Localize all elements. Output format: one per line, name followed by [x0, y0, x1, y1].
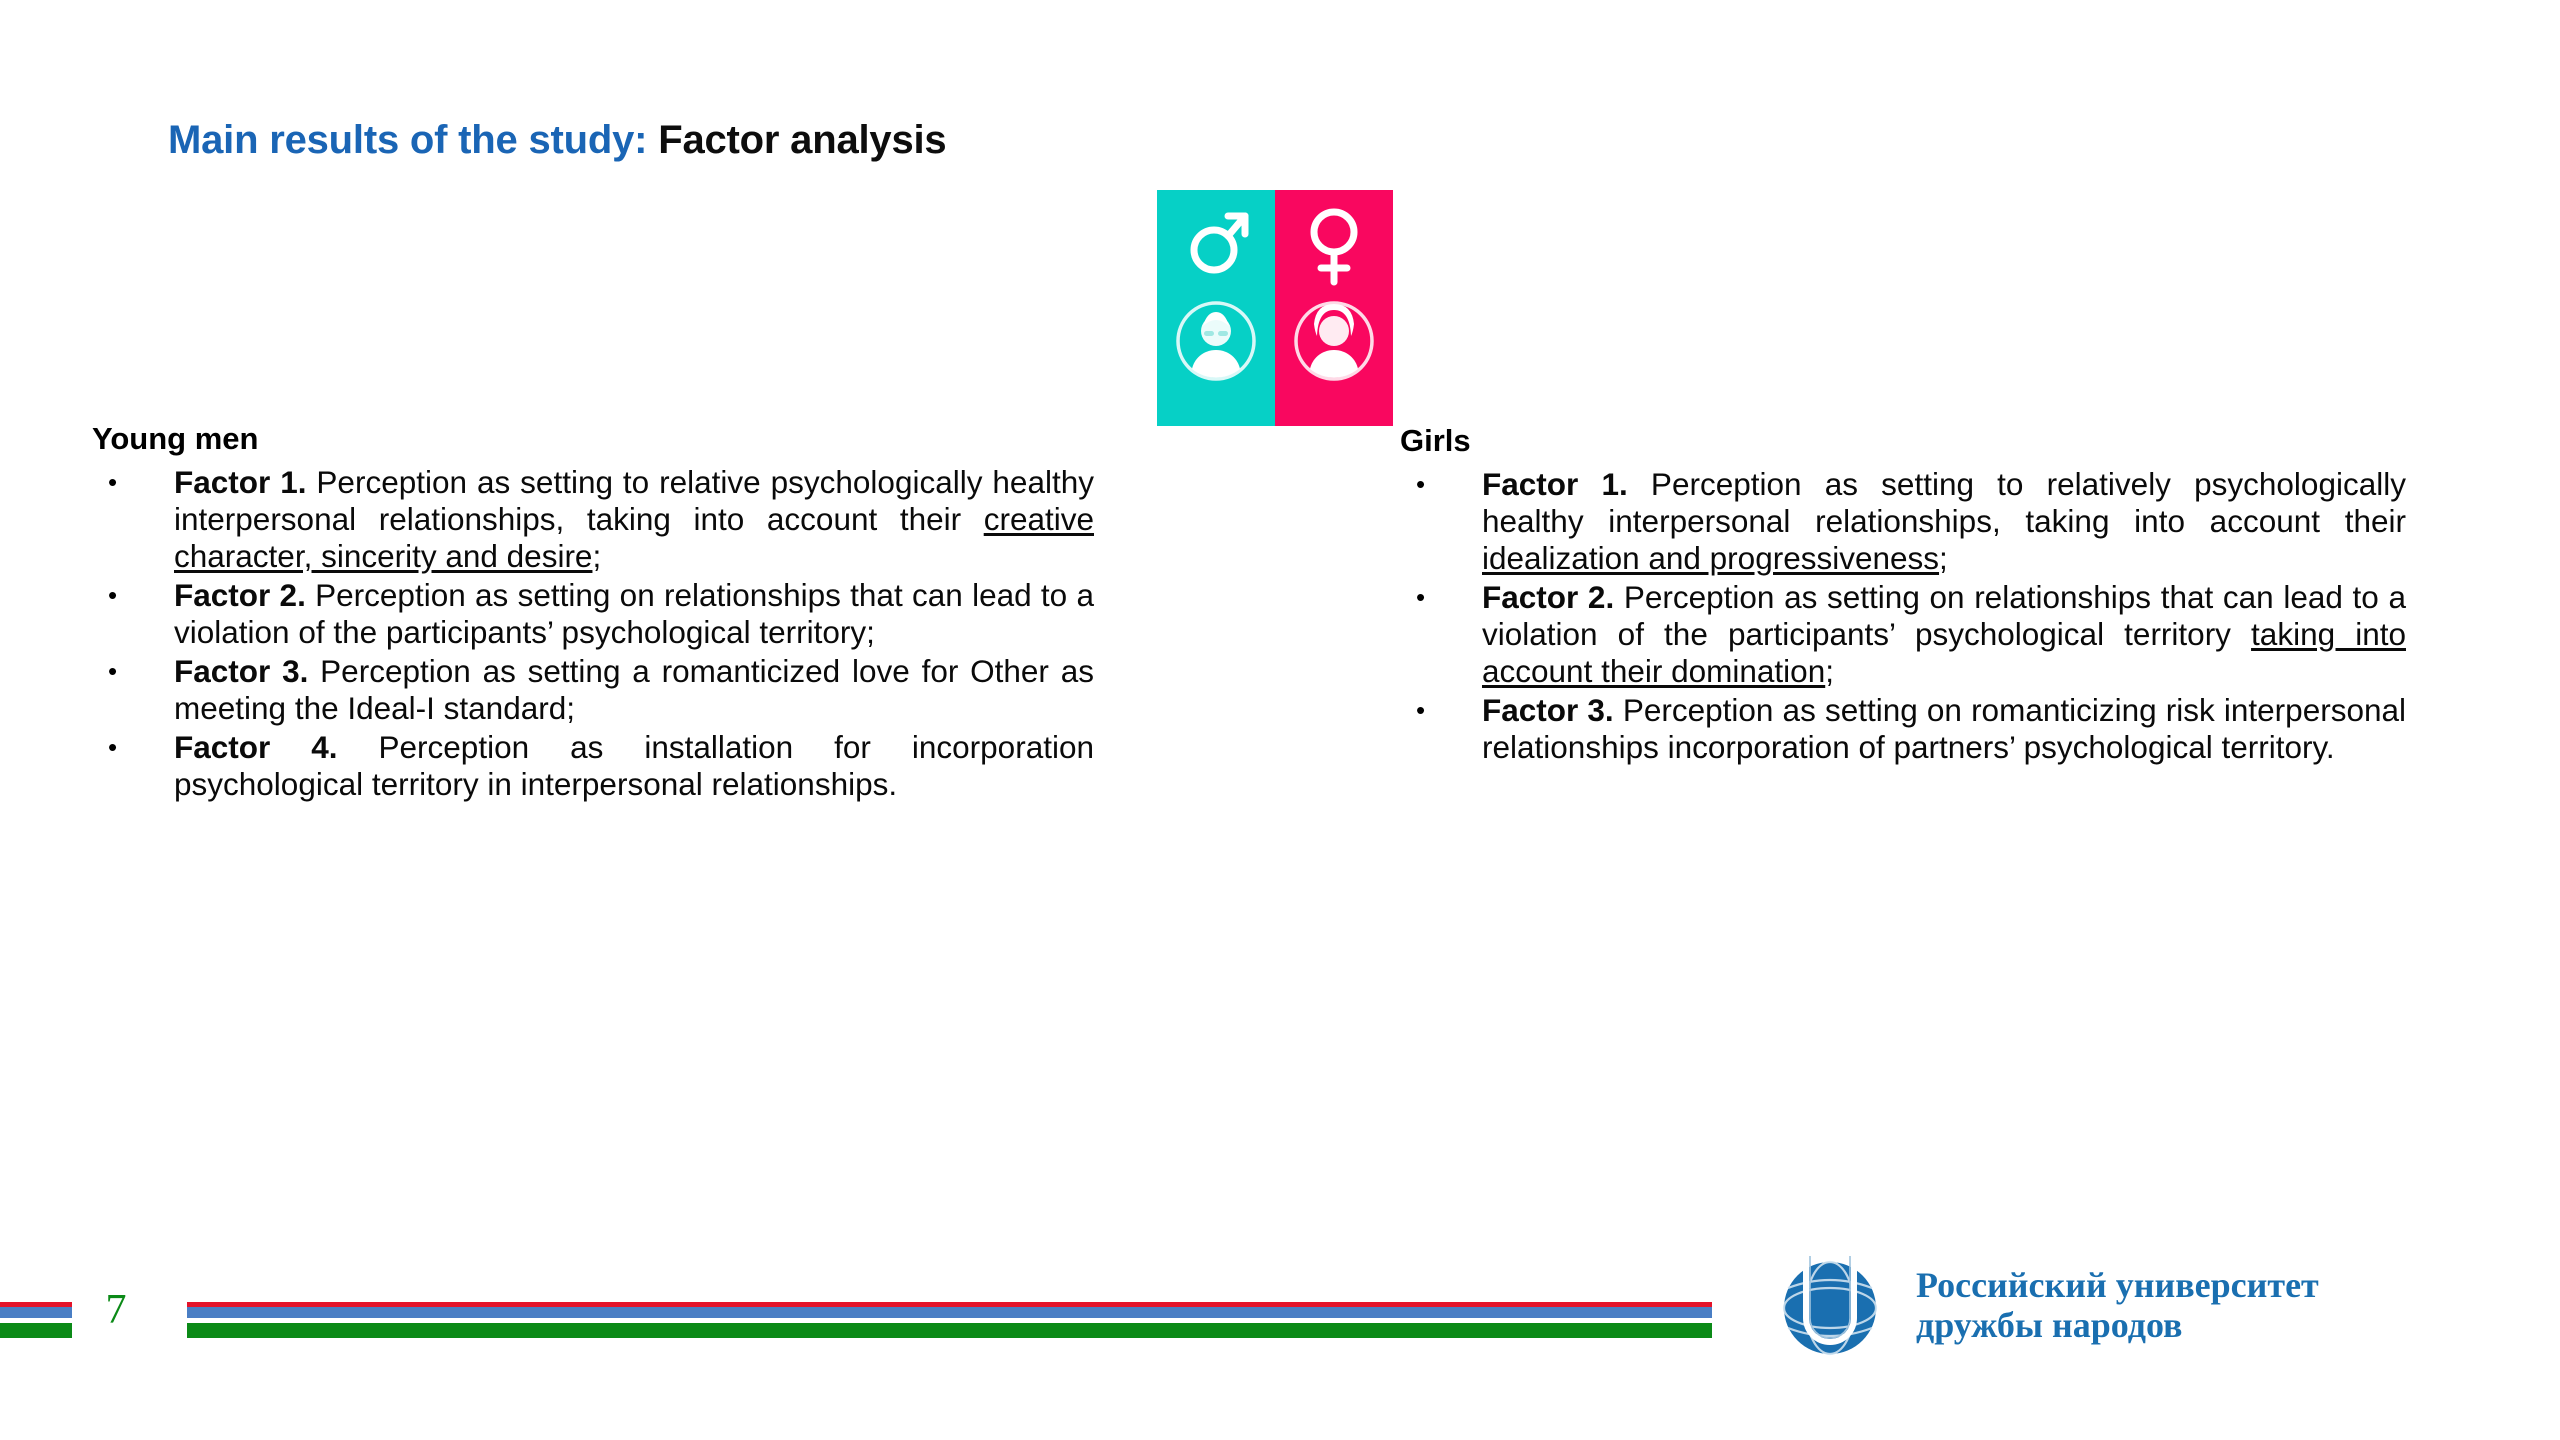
factor-text: Perception as setting a romanticized lov… [174, 653, 1094, 726]
factor-label: Factor 2. [1482, 579, 1614, 615]
factor-list-girls: Factor 1. Perception as setting to relat… [1400, 466, 2406, 766]
list-item: Factor 1. Perception as setting to relat… [1400, 466, 2406, 577]
stripe-green [187, 1323, 1712, 1338]
rudn-globe-icon [1770, 1246, 1890, 1364]
factor-list-young-men: Factor 1. Perception as setting to relat… [92, 464, 1094, 803]
column-heading-girls: Girls [1400, 424, 2406, 458]
list-item: Factor 3. Perception as setting on roman… [1400, 692, 2406, 766]
factor-text-tail: ; [1825, 653, 1834, 689]
factor-text: Perception as setting on relationships t… [174, 577, 1094, 650]
stripe-blue [0, 1307, 72, 1318]
footer-stripe-left [0, 1302, 72, 1338]
factor-label: Factor 3. [1482, 692, 1614, 728]
footer-stripe-right [187, 1302, 1712, 1338]
column-girls: Girls Factor 1. Perception as setting to… [1400, 424, 2406, 768]
male-avatar-icon [1173, 298, 1259, 389]
factor-label: Factor 2. [174, 577, 306, 613]
rudn-logo-text: Российский университет дружбы народов [1916, 1265, 2319, 1346]
factor-text-tail: ; [592, 538, 601, 574]
list-item: Factor 2. Perception as setting on relat… [92, 577, 1094, 651]
page-title-highlight: Main results of the study: [168, 118, 647, 162]
list-item: Factor 2. Perception as setting on relat… [1400, 579, 2406, 690]
rudn-logo: Российский университет дружбы народов [1770, 1245, 2319, 1365]
list-item: Factor 3. Perception as setting a romant… [92, 653, 1094, 727]
page-number: 7 [93, 1286, 139, 1334]
male-gender-symbol-icon [1181, 204, 1251, 283]
factor-label: Factor 4. [174, 729, 338, 765]
stripe-green [0, 1323, 72, 1338]
male-panel [1157, 190, 1275, 426]
female-gender-symbol-icon [1299, 204, 1369, 293]
factor-text: Perception as setting on romanticizing r… [1482, 692, 2406, 765]
stripe-blue [187, 1307, 1712, 1318]
female-panel [1275, 190, 1393, 426]
factor-label: Factor 1. [1482, 466, 1628, 502]
factor-text-tail: ; [1939, 540, 1948, 576]
page-title-rest: Factor analysis [647, 118, 946, 162]
column-young-men: Young men Factor 1. Perception as settin… [92, 422, 1094, 805]
female-avatar-icon [1291, 298, 1377, 389]
column-heading-young-men: Young men [92, 422, 1094, 456]
factor-text-underlined: idealization and progressiveness [1482, 540, 1939, 576]
gender-comparison-image [1157, 190, 1393, 426]
list-item: Factor 1. Perception as setting to relat… [92, 464, 1094, 575]
rudn-logo-line2: дружбы народов [1916, 1305, 2319, 1345]
rudn-logo-line1: Российский университет [1916, 1265, 2319, 1305]
factor-label: Factor 3. [174, 653, 308, 689]
factor-text: Perception as setting to relative psycho… [174, 464, 1094, 537]
page-title: Main results of the study: Factor analys… [168, 118, 946, 163]
list-item: Factor 4. Perception as installation for… [92, 729, 1094, 803]
factor-label: Factor 1. [174, 464, 306, 500]
